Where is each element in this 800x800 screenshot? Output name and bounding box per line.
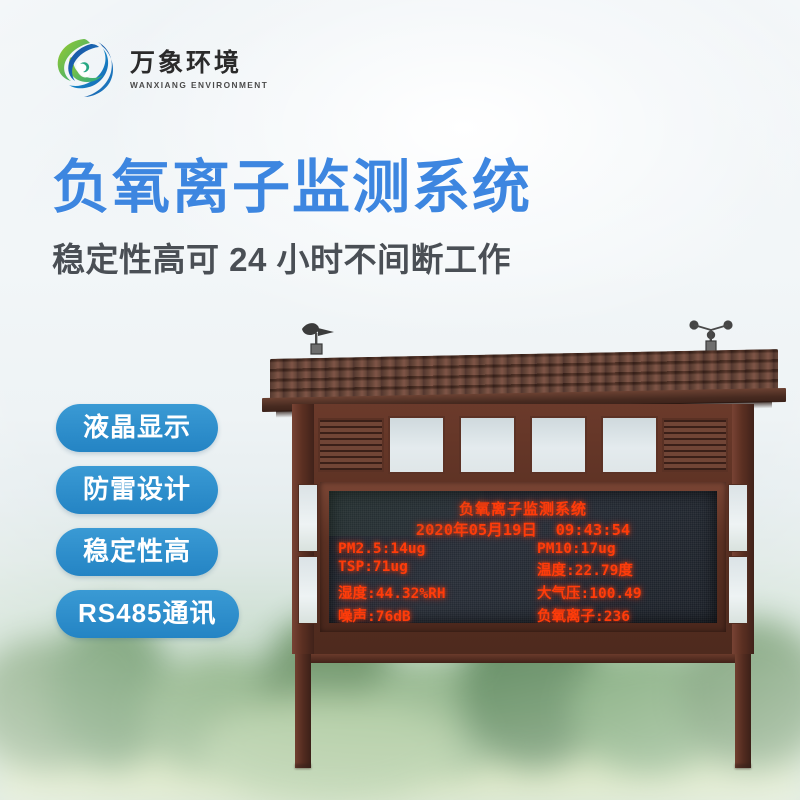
louver-vent-left xyxy=(318,418,384,472)
side-window-right-lower xyxy=(728,556,748,624)
side-window-left-lower xyxy=(298,556,318,624)
window-pane xyxy=(530,416,587,474)
led-time: 09:43:54 xyxy=(556,521,631,539)
led-screen-bezel: 负氧离子监测系统 2020年05月19日 09:43:54 PM2.5:14ug… xyxy=(320,482,726,632)
station-roof xyxy=(262,349,786,407)
side-window-right xyxy=(728,484,748,552)
station-cabinet: 负氧离子监测系统 2020年05月19日 09:43:54 PM2.5:14ug… xyxy=(292,404,754,654)
feature-badge[interactable]: 防雷设计 xyxy=(56,466,218,514)
reading-pm10: PM10:17ug xyxy=(523,541,708,557)
globe-swirl-logo-icon xyxy=(50,34,120,104)
station-leg-left xyxy=(295,654,311,768)
reading-tsp: TSP:71ug xyxy=(338,559,523,580)
window-pane xyxy=(459,416,516,474)
upper-window-row xyxy=(388,416,658,470)
led-datetime: 2020年05月19日 09:43:54 xyxy=(329,518,717,540)
feature-badge-list: 液晶显示 防雷设计 稳定性高 RS485通讯 xyxy=(56,404,239,638)
window-pane xyxy=(388,416,445,474)
station-legs xyxy=(292,654,754,768)
led-display[interactable]: 负氧离子监测系统 2020年05月19日 09:43:54 PM2.5:14ug… xyxy=(329,491,717,623)
leg-foot-right xyxy=(735,764,751,769)
headline-block: 负氧离子监测系统 稳定性高可 24 小时不间断工作 xyxy=(52,158,672,281)
page-title: 负氧离子监测系统 xyxy=(52,158,672,219)
led-date: 2020年05月19日 xyxy=(416,521,537,539)
led-reading-grid: PM2.5:14ug PM10:17ug TSP:71ug 温度:22.79度 … xyxy=(338,541,708,623)
feature-badge[interactable]: 稳定性高 xyxy=(56,528,218,576)
monitoring-station: 负氧离子监测系统 2020年05月19日 09:43:54 PM2.5:14ug… xyxy=(262,316,786,768)
reading-temp: 温度:22.79度 xyxy=(523,559,708,580)
feature-badge[interactable]: 液晶显示 xyxy=(56,404,218,452)
reading-pm25: PM2.5:14ug xyxy=(338,541,523,557)
brand-logo: 万象环境 WANXIANG ENVIRONMENT xyxy=(50,34,268,104)
led-display-title: 负氧离子监测系统 xyxy=(329,498,717,519)
reading-anion: 负氧离子:236 xyxy=(523,605,708,623)
leg-crossbar xyxy=(295,654,751,663)
page-subtitle: 稳定性高可 24 小时不间断工作 xyxy=(52,233,672,281)
poster-canvas: 万象环境 WANXIANG ENVIRONMENT 负氧离子监测系统 稳定性高可… xyxy=(0,0,800,800)
feature-badge[interactable]: RS485通讯 xyxy=(56,590,239,638)
station-leg-right xyxy=(735,654,751,768)
side-window-left xyxy=(298,484,318,552)
brand-name-en: WANXIANG ENVIRONMENT xyxy=(130,80,268,90)
leg-foot-left xyxy=(295,764,311,769)
reading-humidity: 湿度:44.32%RH xyxy=(338,582,523,603)
louver-vent-right xyxy=(662,418,728,472)
reading-pressure: 大气压:100.49 xyxy=(523,582,708,603)
window-pane xyxy=(601,416,658,474)
brand-name-cn: 万象环境 xyxy=(130,49,268,77)
reading-noise: 噪声:76dB xyxy=(338,605,523,623)
